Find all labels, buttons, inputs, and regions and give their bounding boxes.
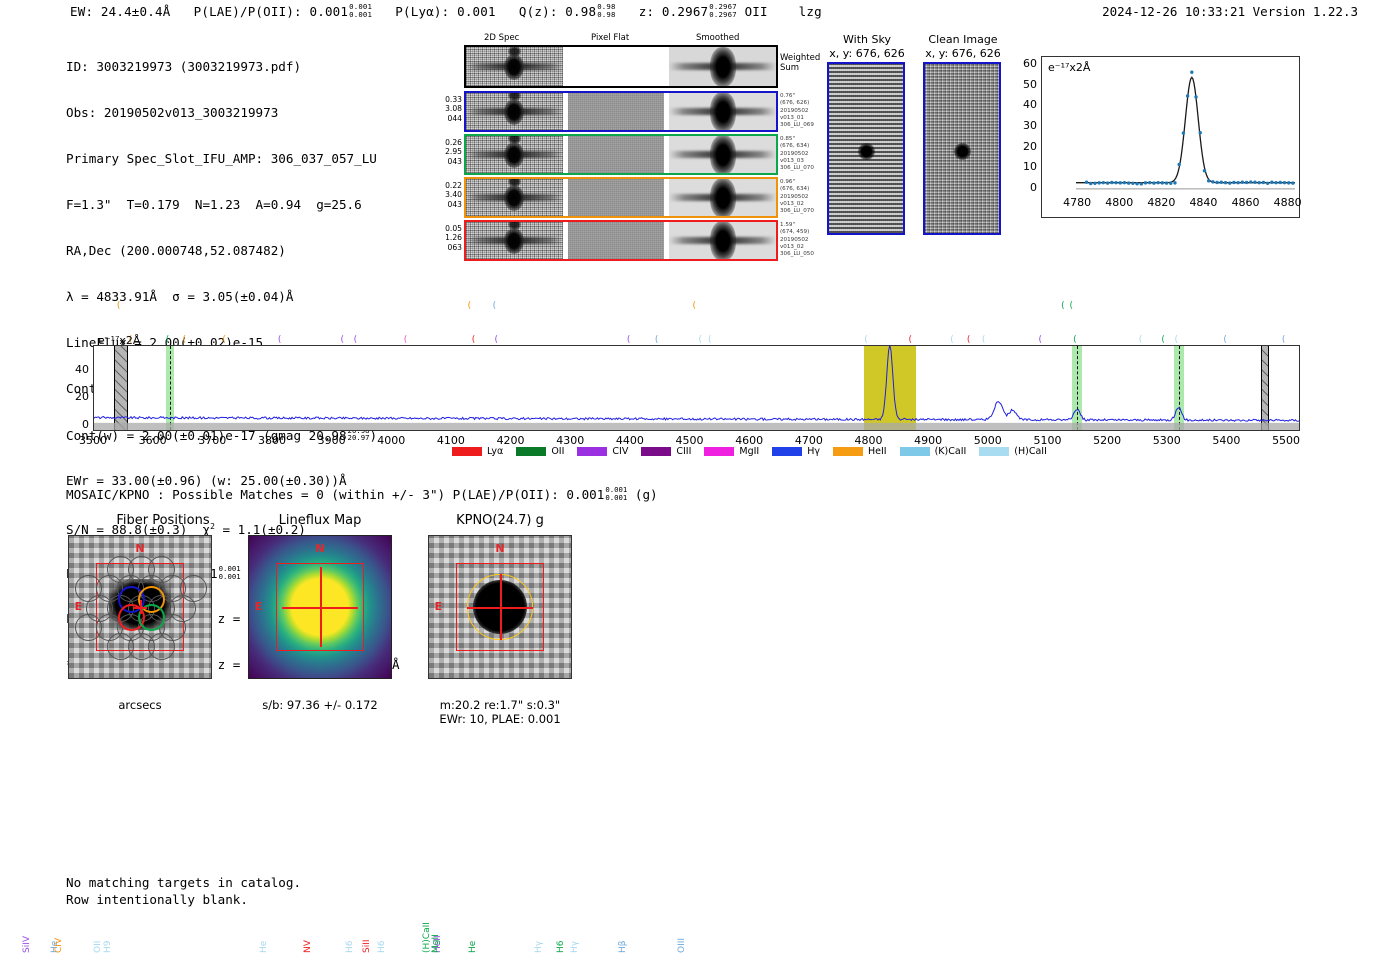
panel-lineflux-map: Lineflux Map N E s/b: 97.36 +/- 0.172: [248, 535, 438, 725]
col-title-pixelflat: Pixel Flat: [591, 33, 629, 43]
spectral-line-marker: (: [967, 335, 971, 345]
legend-swatch: [452, 447, 482, 456]
zoom-ytick: 0: [1015, 181, 1037, 194]
header-z-type: OII: [745, 4, 768, 19]
fiber-circle: [107, 556, 134, 583]
col-title-smoothed: Smoothed: [696, 33, 739, 43]
emission-line-zoom-plot[interactable]: e⁻¹⁷x2Å: [1041, 56, 1300, 218]
spectral-line-marker: (: [117, 301, 121, 311]
legend-label: (H)CaII: [1014, 446, 1047, 457]
exposure-smoothed-image: [669, 136, 776, 173]
exposure-smoothed-image: [669, 93, 776, 130]
fiber-circle: [148, 556, 175, 583]
legend-item: CIII: [641, 446, 691, 457]
exposure-meta-line: 306_LU_050: [780, 251, 838, 258]
spectral-line-marker: (: [1175, 335, 1179, 345]
panel-kpno: KPNO(24.7) g N E m:20.2 re:1.7" s:0.3" E…: [428, 535, 618, 725]
kpno-image[interactable]: N E: [428, 535, 572, 679]
legend-label: Lyα: [487, 446, 503, 457]
spectral-line-marker: (: [708, 335, 712, 345]
exposure-smoothed-image: [669, 222, 776, 259]
exposure-stats: 0.262.95043: [424, 138, 462, 166]
exposure-row[interactable]: [464, 220, 778, 261]
zoom-xtick: 4780: [1060, 196, 1094, 209]
spectral-line-marker: (: [404, 335, 408, 345]
zoom-ytick: 30: [1015, 119, 1037, 132]
zoom-xtick: 4880: [1271, 196, 1305, 209]
legend-swatch: [979, 447, 1009, 456]
spectral-line-marker: (: [693, 301, 697, 311]
exposure-stat-value: 1.26: [424, 233, 462, 242]
exposure-stat-value: 063: [424, 243, 462, 252]
spectrum-xtick: 5200: [1085, 434, 1129, 447]
weighted-sum-row: [464, 45, 778, 88]
panel-fiber-positions: Fiber Positions N E arcsecs: [68, 535, 258, 725]
mosaic-match-line: MOSAIC/KPNO : Possible Matches = 0 (with…: [66, 486, 658, 502]
legend-swatch: [577, 447, 607, 456]
exposure-stat-value: 0.05: [424, 224, 462, 233]
withsky-image[interactable]: [827, 62, 905, 235]
spectrum-xtick: 3600: [131, 434, 175, 447]
exposure-2dspec-image: [466, 179, 563, 216]
report-page: EW: 24.4±0.4Å P(LAE)/P(OII): 0.0010.0010…: [0, 0, 1400, 953]
exposure-row[interactable]: [464, 91, 778, 132]
lineflux-map-image[interactable]: N E: [248, 535, 392, 679]
legend-item: CIV: [577, 446, 628, 457]
spectral-line-marker: (: [341, 335, 345, 345]
spectral-line-marker: (: [1139, 335, 1143, 345]
info-obs: Obs: 20190502v013_3003219973: [66, 105, 400, 120]
spectral-line-marker: (: [494, 335, 498, 345]
exposure-stats: 0.223.40043: [424, 181, 462, 209]
fiber-circle: [107, 633, 134, 660]
compass-north: N: [135, 542, 144, 555]
exposure-stat-value: 0.26: [424, 138, 462, 147]
zoom-ytick: 40: [1015, 98, 1037, 111]
spectral-line-marker: (: [950, 335, 954, 345]
weighted-pixelflat-image: [568, 47, 665, 86]
legend-swatch: [772, 447, 802, 456]
fiber-positions-image[interactable]: N E: [68, 535, 212, 679]
exposure-meta-line: 20190502: [780, 237, 838, 244]
info-slot: Primary Spec_Slot_IFU_AMP: 306_037_057_L…: [66, 151, 400, 166]
exposure-stat-value: 0.33: [424, 95, 462, 104]
legend-item: (H)CaII: [979, 446, 1047, 457]
exposure-2dspec-image: [466, 222, 563, 259]
withsky-coords: x, y: 676, 626: [812, 47, 922, 60]
spectral-line-marker: (: [468, 301, 472, 311]
zoom-ytick: 10: [1015, 160, 1037, 173]
kpno-title: KPNO(24.7) g: [428, 513, 572, 528]
spectral-line-marker: (: [1061, 301, 1065, 311]
info-seeing: F=1.3" T=0.179 N=1.23 A=0.94 g=25.6: [66, 197, 400, 212]
exposure-stat-value: 0.22: [424, 181, 462, 190]
zoom-xtick: 4820: [1144, 196, 1178, 209]
exposure-pixelflat-image: [568, 179, 665, 216]
spectrum-ytick: 40: [65, 363, 89, 376]
spectrum-xtick: 5500: [1264, 434, 1308, 447]
exposure-pixelflat-image: [568, 136, 665, 173]
cleanimage-coords: x, y: 676, 626: [908, 47, 1018, 60]
spectrum-xtick: 5400: [1204, 434, 1248, 447]
exposure-pixelflat-image: [568, 222, 665, 259]
zoom-plot-svg: [1042, 57, 1301, 219]
header-qz: Q(z): 0.98: [519, 4, 596, 19]
exposure-stat-value: 044: [424, 114, 462, 123]
col-title-2dspec: 2D Spec: [484, 33, 519, 43]
spectrum-xtick: 3800: [250, 434, 294, 447]
legend-swatch: [900, 447, 930, 456]
exposure-stat-value: 3.40: [424, 190, 462, 199]
cleanimage-title: Clean Image: [908, 33, 1018, 46]
legend-swatch: [833, 447, 863, 456]
spectral-line-marker: (: [1161, 335, 1165, 345]
spectral-line-marker: (: [278, 335, 282, 345]
legend-label: (K)CaII: [935, 446, 967, 457]
exposure-pixelflat-image: [568, 93, 665, 130]
fiber-circle: [180, 575, 207, 602]
zoom-ytick: 50: [1015, 78, 1037, 91]
legend-label: OII: [551, 446, 564, 457]
zoom-ytick: 60: [1015, 57, 1037, 70]
header-qz-range: 0.980.98: [597, 3, 615, 18]
spectrum-xtick: 3700: [190, 434, 234, 447]
spectral-line-marker: (: [1070, 301, 1074, 311]
exposure-stats: 0.333.08044: [424, 95, 462, 123]
spectral-line-marker: (: [222, 335, 226, 345]
cleanimage-image[interactable]: [923, 62, 1001, 235]
header-flag: lzg: [799, 4, 822, 19]
exposure-stat-value: 043: [424, 157, 462, 166]
legend-label: CIII: [676, 446, 691, 457]
header-ew: EW: 24.4±0.4Å: [70, 4, 170, 19]
legend-item: Lyα: [452, 446, 503, 457]
spectral-line-marker: (: [1038, 335, 1042, 345]
weighted-2dspec-image: [466, 47, 563, 86]
exposure-stat-value: 043: [424, 200, 462, 209]
zoom-xtick: 4860: [1229, 196, 1263, 209]
full-spectrum-plot[interactable]: e⁻¹⁷x2Å: [93, 345, 1300, 431]
exposure-meta-line: v013_02: [780, 244, 838, 251]
fiber-circle: [75, 614, 102, 641]
spectral-line-label: OIII: [677, 938, 1289, 953]
spectral-line-marker: (: [493, 301, 497, 311]
legend-item: (K)CaII: [900, 446, 967, 457]
spectral-line-marker: (: [1073, 335, 1077, 345]
header-plae: P(LAE)/P(OII): 0.001: [194, 4, 349, 19]
exposure-smoothed-image: [669, 179, 776, 216]
kpno-caption-1: m:20.2 re:1.7" s:0.3": [428, 698, 572, 712]
compass-east: E: [435, 600, 443, 613]
full-spectrum-svg: [94, 346, 1299, 430]
compass-north: N: [315, 542, 324, 555]
legend-swatch: [516, 447, 546, 456]
zoom-xtick: 4800: [1102, 196, 1136, 209]
legend-label: CIV: [612, 446, 628, 457]
line-legend: LyαOIICIVCIIIMgIIHγHeII(K)CaII(H)CaII: [452, 446, 1047, 457]
bottom-note: No matching targets in catalog. Row inte…: [66, 874, 301, 908]
weighted-smoothed-image: [669, 47, 776, 86]
info-radec: RA,Dec (200.000748,52.087482): [66, 243, 400, 258]
spectral-line-marker: (: [627, 335, 631, 345]
spectral-line-marker: (: [864, 335, 868, 345]
spectrum-ytick: 20: [65, 390, 89, 403]
header-plya: P(Lyα): 0.001: [395, 4, 495, 19]
fiber-positions-title: Fiber Positions: [68, 513, 258, 528]
compass-north: N: [495, 542, 504, 555]
header-z: z: 0.2967: [639, 4, 709, 19]
legend-item: Hγ: [772, 446, 820, 457]
fiber-positions-xlabel: arcsecs: [68, 698, 212, 712]
spectrum-xtick: 3500: [71, 434, 115, 447]
twod-spectra-panel: 2D Spec Pixel Flat Smoothed Weighted Sum…: [424, 33, 796, 261]
legend-item: OII: [516, 446, 564, 457]
timestamp-version: 2024-12-26 10:33:21 Version 1.22.3: [1102, 4, 1358, 19]
header-plae-range: 0.0010.001: [349, 3, 372, 18]
spectrum-xtick: 3900: [310, 434, 354, 447]
spectral-line-marker: (: [166, 335, 170, 345]
spectral-line-marker: (: [182, 335, 186, 345]
exposure-stat-value: 3.08: [424, 104, 462, 113]
spectrum-xtick: 5300: [1145, 434, 1189, 447]
spectral-line-marker: (: [354, 335, 358, 345]
withsky-title: With Sky: [812, 33, 922, 46]
spectrum-xtick: 4000: [369, 434, 413, 447]
header-z-range: 0.29670.2967: [709, 3, 737, 18]
exposure-stats: 0.051.26063: [424, 224, 462, 252]
compass-east: E: [255, 600, 263, 613]
spectrum-ytick: 0: [65, 418, 89, 431]
kpno-caption-2: EWr: 10, PLAE: 0.001: [428, 712, 572, 726]
lineflux-map-caption: s/b: 97.36 +/- 0.172: [248, 698, 392, 712]
exposure-row[interactable]: [464, 177, 778, 218]
zoom-xtick: 4840: [1186, 196, 1220, 209]
legend-label: Hγ: [807, 446, 820, 457]
spectral-line-marker: (: [655, 335, 659, 345]
spectral-line-marker: (: [472, 335, 476, 345]
legend-item: HeII: [833, 446, 887, 457]
legend-swatch: [704, 447, 734, 456]
exposure-row[interactable]: [464, 134, 778, 175]
zoom-ytick: 20: [1015, 140, 1037, 153]
spectral-line-marker: (: [1282, 335, 1286, 345]
compass-east: E: [75, 600, 83, 613]
legend-label: HeII: [868, 446, 887, 457]
summary-header-line: EW: 24.4±0.4Å P(LAE)/P(OII): 0.0010.0010…: [70, 3, 822, 19]
exposure-2dspec-image: [466, 93, 563, 130]
legend-item: MgII: [704, 446, 759, 457]
spectral-line-marker: (: [698, 335, 702, 345]
lineflux-map-title: Lineflux Map: [248, 513, 392, 528]
exposure-stat-value: 2.95: [424, 147, 462, 156]
exposure-2dspec-image: [466, 136, 563, 173]
spectral-line-marker: (: [908, 335, 912, 345]
spectral-line-marker: (: [1223, 335, 1227, 345]
legend-label: MgII: [739, 446, 759, 457]
legend-swatch: [641, 447, 671, 456]
spectral-line-marker: (: [982, 335, 986, 345]
info-id: ID: 3003219973 (3003219973.pdf): [66, 59, 400, 74]
